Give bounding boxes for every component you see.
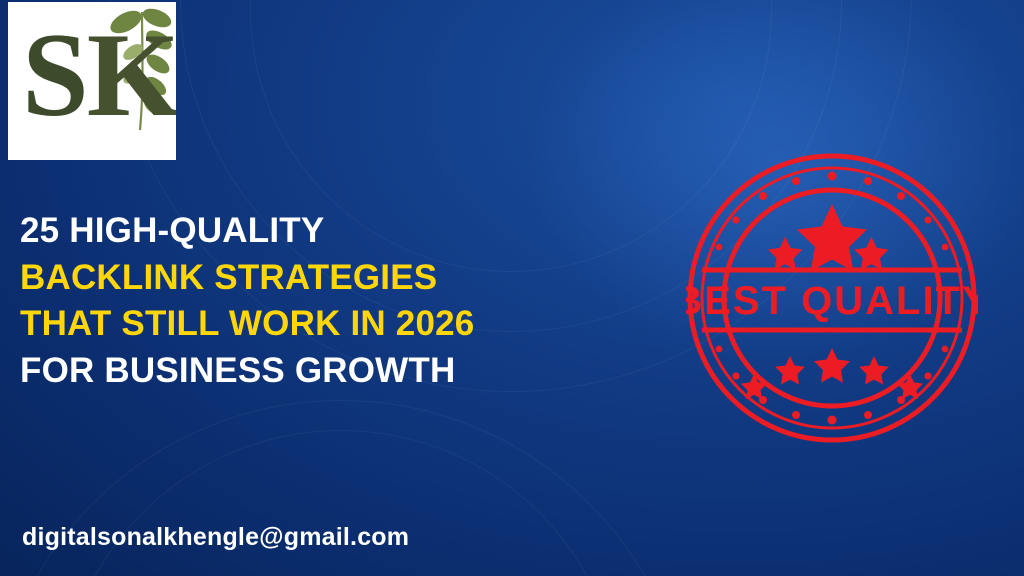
contact-email: digitalsonalkhengle@gmail.com [22,523,409,552]
logo-letter-k: K [87,8,176,141]
decorative-arc [60,430,622,576]
headline-line-1: 25 HIGH-QUALITY [20,208,680,255]
headline-line-2: BACKLINK STRATEGIES [20,255,680,302]
headline-line-4: FOR BUSINESS GROWTH [20,348,680,395]
headline-line-3: THAT STILL WORK IN 2026 [20,301,680,348]
best-quality-stamp: BEST QUALITY [686,152,978,444]
logo-letter-s: S [22,8,87,141]
page-title: 25 HIGH-QUALITY BACKLINK STRATEGIES THAT… [20,208,680,394]
stamp-label: BEST QUALITY [686,279,978,323]
sk-logo: SK [8,2,176,160]
banner-canvas: SK 25 HIGH-QUALITY BACKLINK STRATEGIES T… [0,0,1024,576]
sk-logo-text: SK [22,10,176,140]
